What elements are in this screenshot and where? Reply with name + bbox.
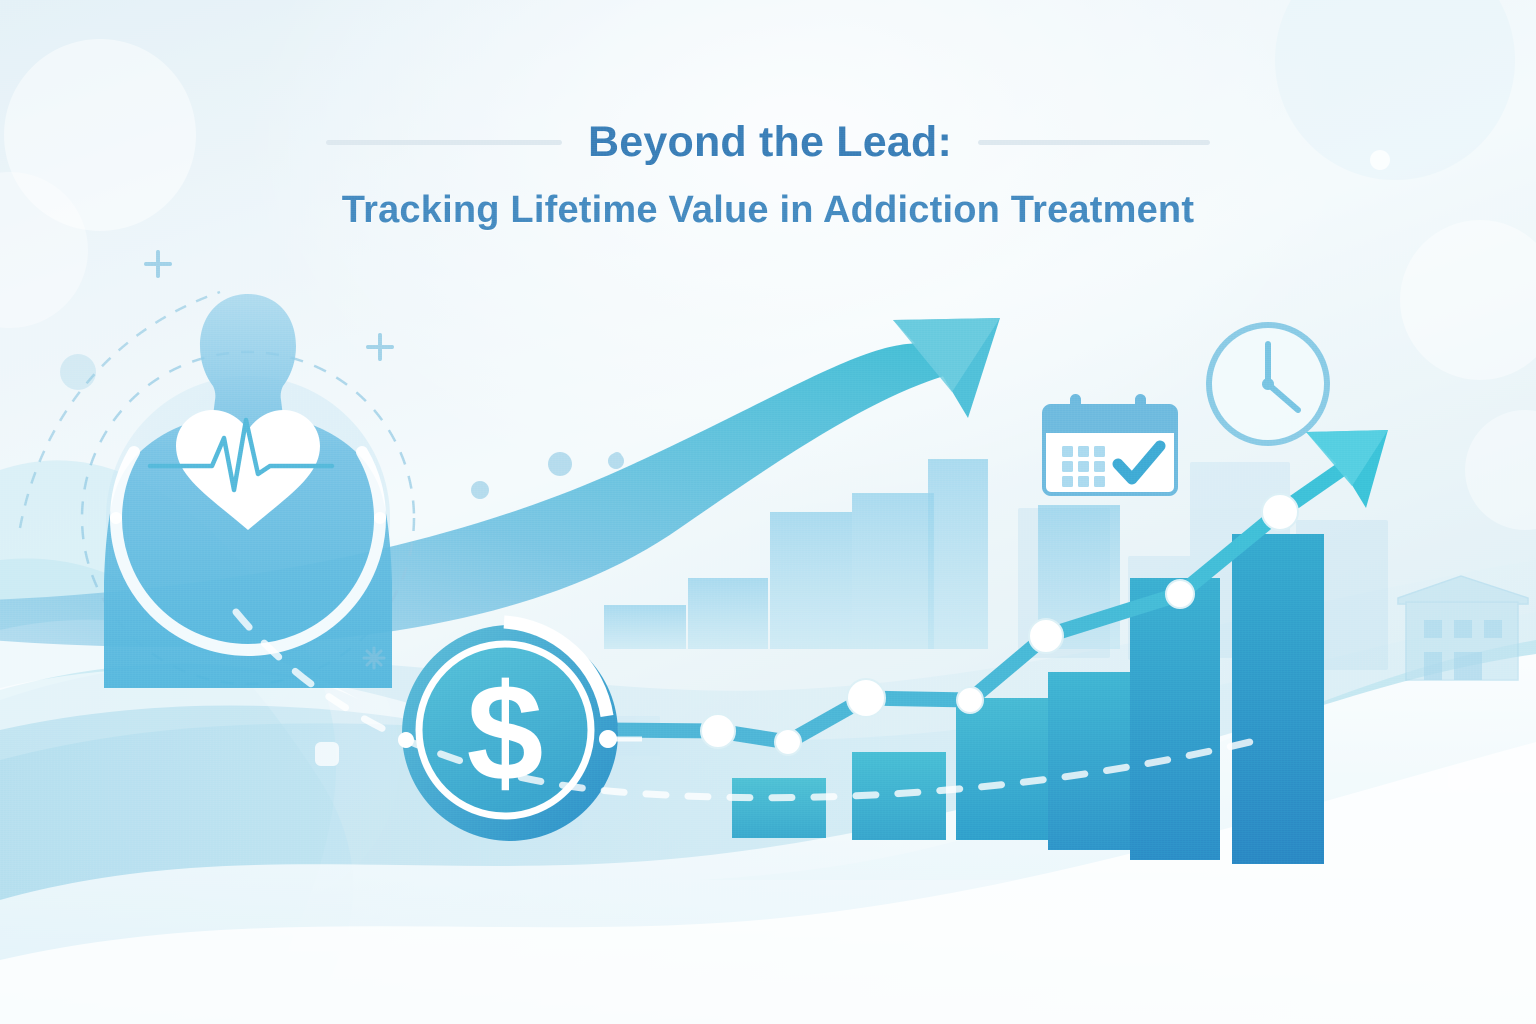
plus-icon	[146, 252, 392, 359]
poster-canvas: $	[0, 0, 1536, 1024]
title-rule-left	[326, 140, 562, 145]
sparkle-icon	[364, 648, 384, 668]
poster-heading: Beyond the Lead: Tracking Lifetime Value…	[0, 118, 1536, 232]
title-rule-right	[978, 140, 1210, 145]
page-subtitle: Tracking Lifetime Value in Addiction Tre…	[0, 189, 1536, 232]
page-title: Beyond the Lead:	[588, 118, 952, 167]
title-row: Beyond the Lead:	[0, 118, 1536, 167]
